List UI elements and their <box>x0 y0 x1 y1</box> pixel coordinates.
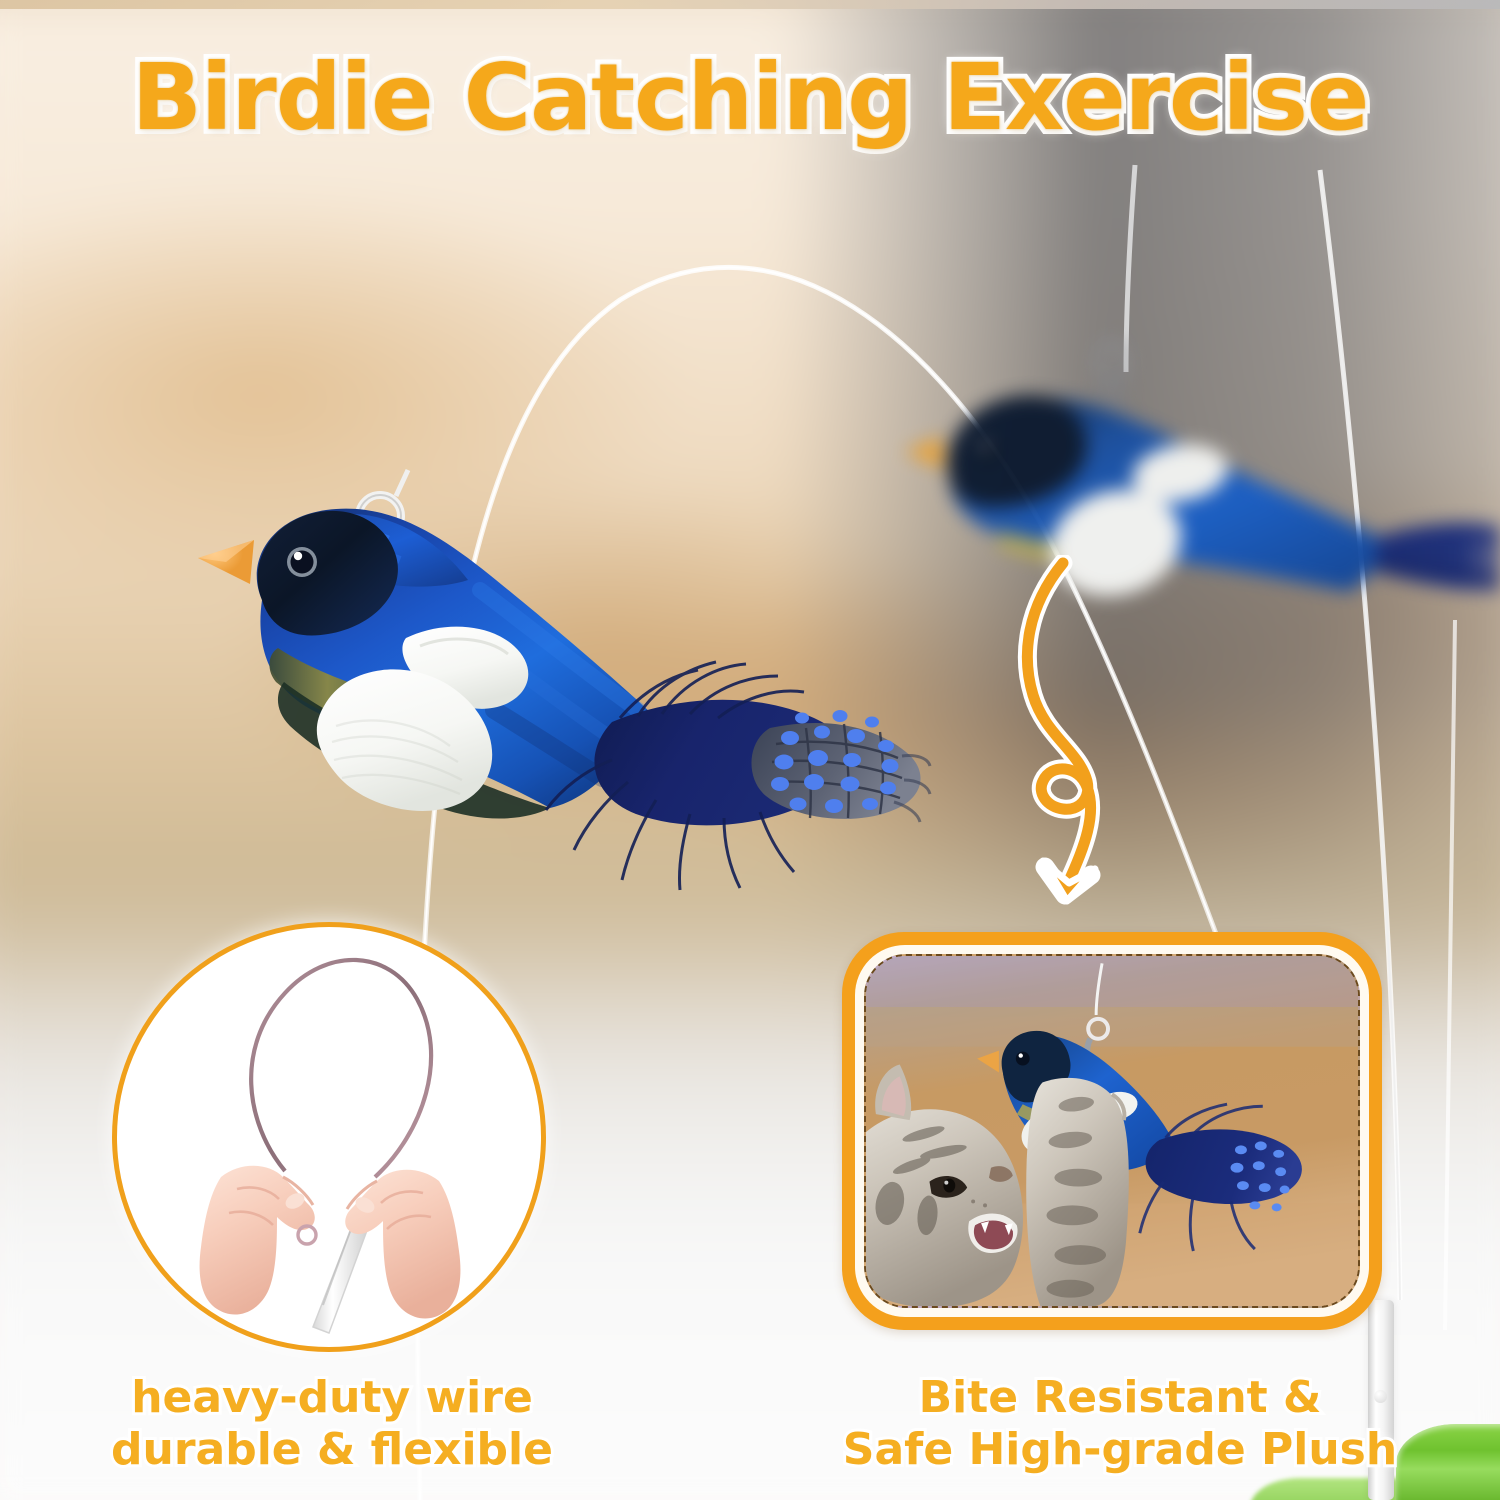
inset-white-ring <box>855 945 1369 1317</box>
background-bird-tail <box>1374 523 1500 592</box>
nylon-wire-drop <box>396 470 408 496</box>
background-bird-beak <box>904 436 944 470</box>
cat-paw <box>1026 1078 1129 1306</box>
curly-arrow-icon <box>975 555 1165 945</box>
page-title: Birdie Catching Exercise <box>0 52 1500 144</box>
feature-inset-wire[interactable] <box>112 922 546 1352</box>
background-bird <box>880 330 1500 690</box>
caption-wire-line1: heavy-duty wire <box>62 1372 602 1424</box>
product-poster: Birdie Catching Exercise <box>0 0 1500 1500</box>
wire-handle <box>313 1219 369 1333</box>
feature-inset-plush[interactable] <box>842 932 1382 1330</box>
caption-plush-line2: Safe High-grade Plush <box>800 1424 1440 1476</box>
hero-bird-eye <box>291 551 314 574</box>
hero-bird-toy <box>150 470 930 990</box>
background-top-strip <box>0 0 1500 9</box>
wire-loop <box>251 960 431 1177</box>
caption-wire-line2: durable & flexible <box>62 1424 602 1476</box>
caption-wire: heavy-duty wire durable & flexible <box>62 1372 602 1476</box>
caption-plush-line1: Bite Resistant & <box>800 1372 1440 1424</box>
inset-cat-photo <box>864 954 1360 1308</box>
left-hand <box>200 1166 315 1315</box>
background-bird-eye <box>977 439 999 461</box>
caption-plush: Bite Resistant & Safe High-grade Plush <box>800 1372 1440 1476</box>
wire-demo-illustration <box>117 927 541 1347</box>
